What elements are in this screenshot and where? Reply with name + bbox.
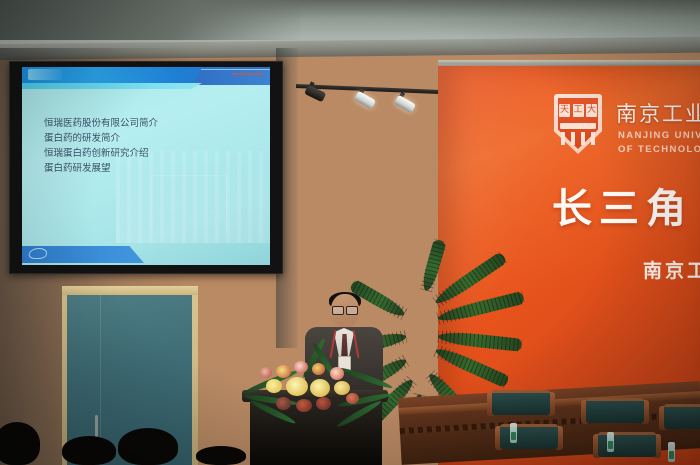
banner-subtitle: 南京工 [643, 256, 700, 283]
panel-seat[interactable] [586, 398, 644, 428]
slide-header-bar: ▬▬▬▬ [22, 67, 270, 84]
shield-glyph-3: 大 [586, 104, 597, 117]
flower-bloom [294, 361, 308, 373]
presenter-glasses-icon [332, 306, 358, 313]
shield-glyph-2: 工 [573, 104, 584, 117]
audience-head-silhouette [118, 428, 178, 465]
slide-logo-mark [28, 69, 62, 80]
audience-head-silhouette [62, 436, 116, 465]
banner-university-name-en-line2: OF TECHNOLOGY [618, 144, 700, 155]
slide-bullet-list: 恒瑞医药股份有限公司简介 蛋白药的研发简介 恒瑞蛋白药创新研究介绍 蛋白药研发展… [44, 116, 158, 176]
slide-title-tab-label: ▬▬▬▬ [232, 70, 264, 77]
banner-university-name-cn: 南京工业大学 [616, 98, 700, 128]
ceiling-shadow [0, 0, 300, 40]
slide-bullet-2: 蛋白药的研发简介 [44, 131, 158, 146]
flower-bloom [276, 397, 291, 410]
flower-bloom [316, 397, 331, 410]
shield-columns [561, 132, 595, 145]
seat-back [492, 390, 550, 415]
flower-bloom [296, 399, 312, 412]
flower-bloom [346, 393, 359, 404]
audience-head-silhouette [196, 446, 246, 465]
door-handle-icon[interactable] [95, 415, 98, 437]
panel-seat[interactable] [492, 390, 550, 420]
slide-body: 恒瑞医药股份有限公司简介 蛋白药的研发简介 恒瑞蛋白药创新研究介绍 蛋白药研发展… [22, 84, 270, 243]
audience-head-silhouette [0, 422, 40, 465]
flower-bloom [334, 381, 350, 395]
panel-seat[interactable] [500, 424, 558, 454]
panel-seat[interactable] [664, 404, 700, 434]
flower-bloom [266, 379, 282, 393]
water-bottle[interactable] [607, 432, 614, 452]
floral-arrangement [246, 353, 390, 421]
door-top-trim [62, 286, 198, 295]
university-shield-logo-icon: 天 工 大 [554, 94, 602, 154]
lecture-hall-photo: ▬▬▬▬ 恒瑞医药股份有限公司简介 蛋白药的研发简介 恒瑞蛋白药创新研究介绍 蛋… [0, 0, 700, 465]
flower-bloom [286, 377, 308, 396]
slide-footer [22, 243, 270, 265]
water-bottle[interactable] [510, 423, 517, 443]
shield-glyph-1: 天 [559, 104, 570, 117]
shield-glyph-row: 天 工 大 [559, 100, 597, 120]
banner-main-title: 长三角 [552, 176, 693, 234]
shield-column-1 [561, 132, 565, 145]
slide-building-outline [151, 175, 227, 230]
seat-back [500, 424, 558, 449]
shield-column-4 [591, 132, 595, 145]
flower-bloom [276, 365, 291, 378]
seat-back [664, 404, 700, 429]
projection-screen: ▬▬▬▬ 恒瑞医药股份有限公司简介 蛋白药的研发简介 恒瑞蛋白药创新研究介绍 蛋… [22, 67, 270, 265]
glasses-lens-left [332, 306, 344, 315]
slide-bullet-1: 恒瑞医药股份有限公司简介 [44, 116, 158, 131]
flower-bloom [330, 367, 344, 380]
seat-back [586, 398, 644, 423]
flower-bloom [260, 367, 272, 378]
slide-bullet-4: 蛋白药研发展望 [44, 161, 158, 176]
flower-bloom [312, 363, 325, 375]
water-bottle[interactable] [668, 442, 675, 462]
flower-bloom [310, 379, 330, 397]
banner-university-name-en-line1: NANJING UNIVERSITY [618, 130, 700, 141]
glasses-lens-right [346, 306, 358, 315]
shield-banner-band [560, 123, 596, 129]
projection-screen-frame: ▬▬▬▬ 恒瑞医药股份有限公司简介 蛋白药的研发简介 恒瑞蛋白药创新研究介绍 蛋… [9, 61, 283, 274]
palm-frond [437, 330, 522, 352]
shield-column-2 [571, 132, 575, 145]
slide-bullet-3: 恒瑞蛋白药创新研究介绍 [44, 146, 158, 161]
shield-column-3 [581, 132, 585, 145]
